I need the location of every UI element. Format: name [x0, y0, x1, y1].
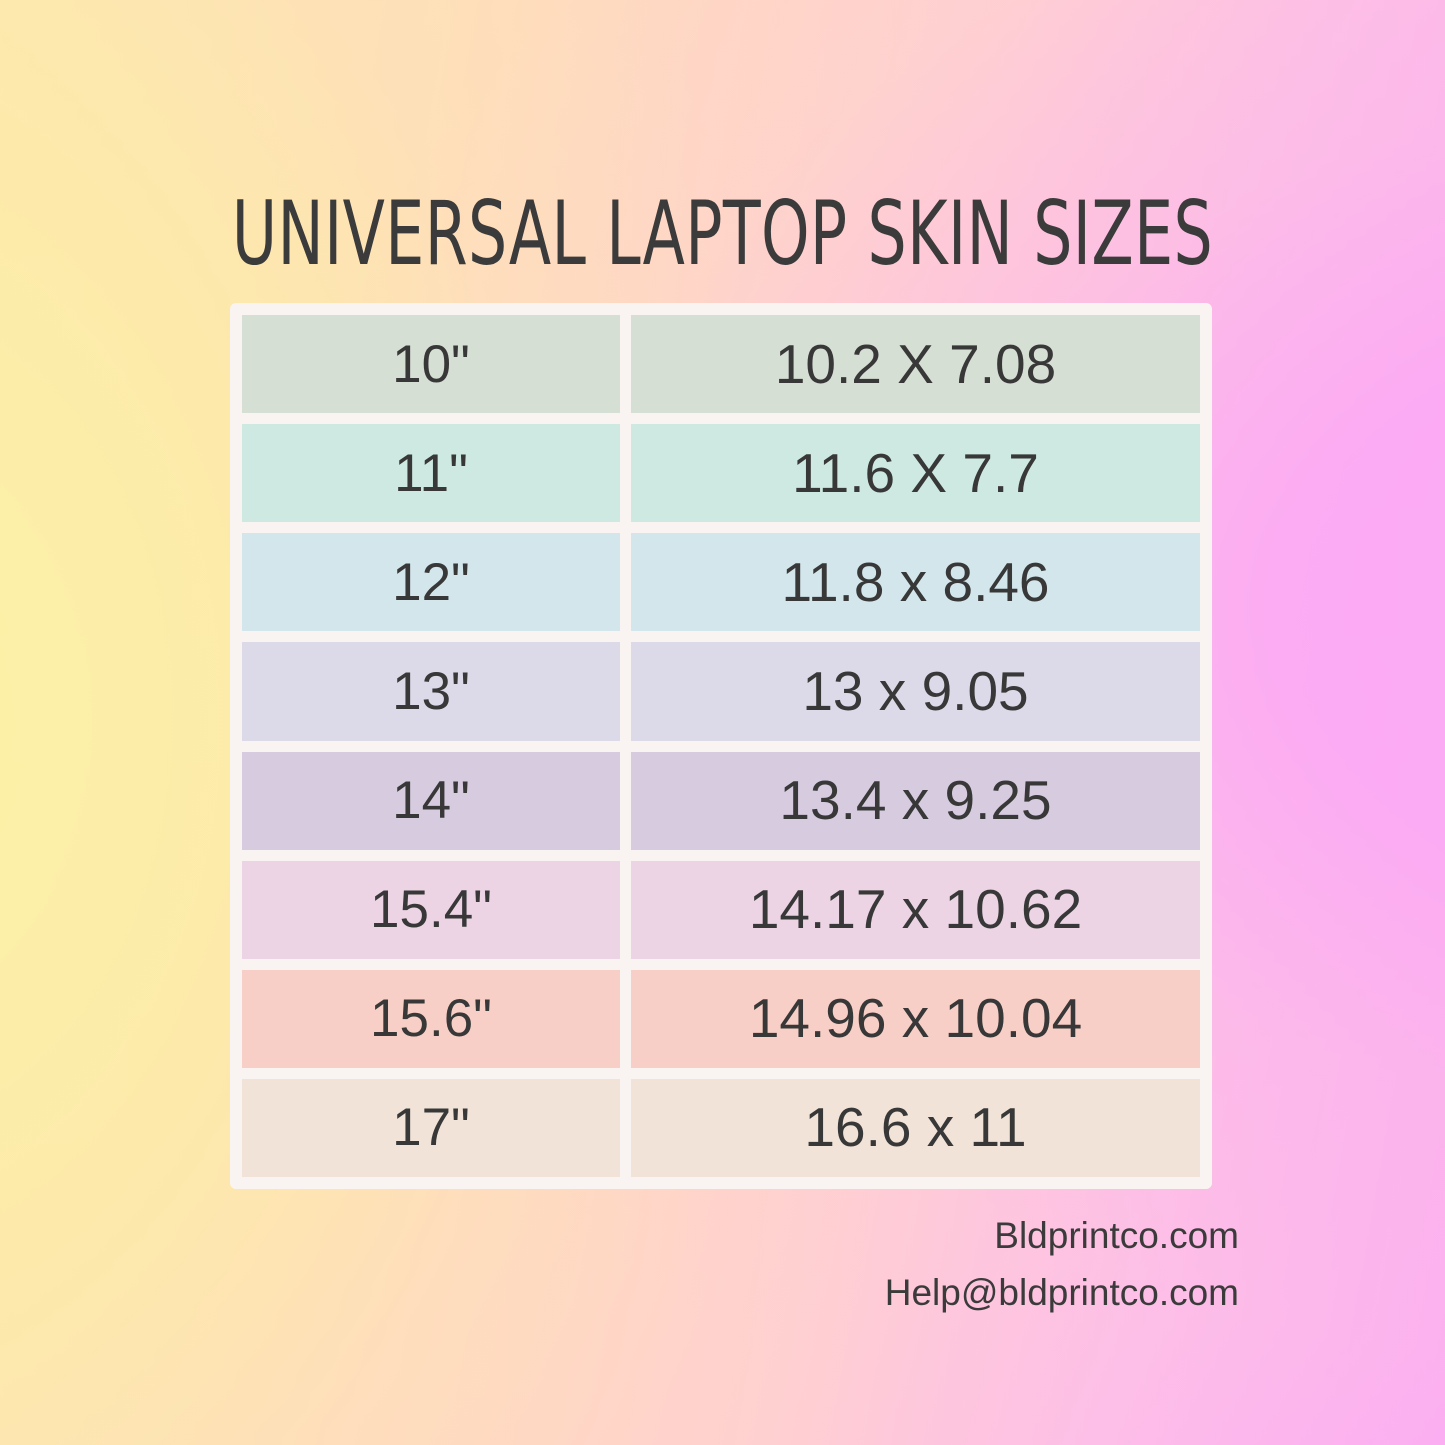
table-row: 11"11.6 X 7.7	[242, 424, 1200, 522]
table-row: 10"10.2 X 7.08	[242, 315, 1200, 413]
cell-screen-size: 15.6"	[242, 970, 620, 1068]
footer-email[interactable]: Help@bldprintco.com	[885, 1264, 1239, 1321]
cell-skin-dimensions: 14.96 x 10.04	[631, 970, 1200, 1068]
cell-screen-size: 13"	[242, 642, 620, 740]
cell-skin-dimensions: 11.8 x 8.46	[631, 533, 1200, 631]
table-row: 15.4"14.17 x 10.62	[242, 861, 1200, 959]
table-row: 13"13 x 9.05	[242, 642, 1200, 740]
table-row: 14"13.4 x 9.25	[242, 752, 1200, 850]
table-row: 12"11.8 x 8.46	[242, 533, 1200, 631]
cell-screen-size: 10"	[242, 315, 620, 413]
cell-screen-size: 17"	[242, 1079, 620, 1177]
cell-skin-dimensions: 14.17 x 10.62	[631, 861, 1200, 959]
cell-screen-size: 12"	[242, 533, 620, 631]
cell-skin-dimensions: 13 x 9.05	[631, 642, 1200, 740]
cell-screen-size: 14"	[242, 752, 620, 850]
table-row: 17"16.6 x 11	[242, 1079, 1200, 1177]
cell-skin-dimensions: 11.6 X 7.7	[631, 424, 1200, 522]
cell-screen-size: 11"	[242, 424, 620, 522]
footer: Bldprintco.com Help@bldprintco.com	[885, 1207, 1239, 1321]
cell-skin-dimensions: 13.4 x 9.25	[631, 752, 1200, 850]
cell-skin-dimensions: 10.2 X 7.08	[631, 315, 1200, 413]
table-row: 15.6"14.96 x 10.04	[242, 970, 1200, 1068]
page-title: UNIVERSAL LAPTOP SKIN SIZES	[159, 186, 1286, 282]
cell-skin-dimensions: 16.6 x 11	[631, 1079, 1200, 1177]
cell-screen-size: 15.4"	[242, 861, 620, 959]
size-chart-table: 10"10.2 X 7.0811"11.6 X 7.712"11.8 x 8.4…	[230, 303, 1212, 1189]
footer-website[interactable]: Bldprintco.com	[885, 1207, 1239, 1264]
